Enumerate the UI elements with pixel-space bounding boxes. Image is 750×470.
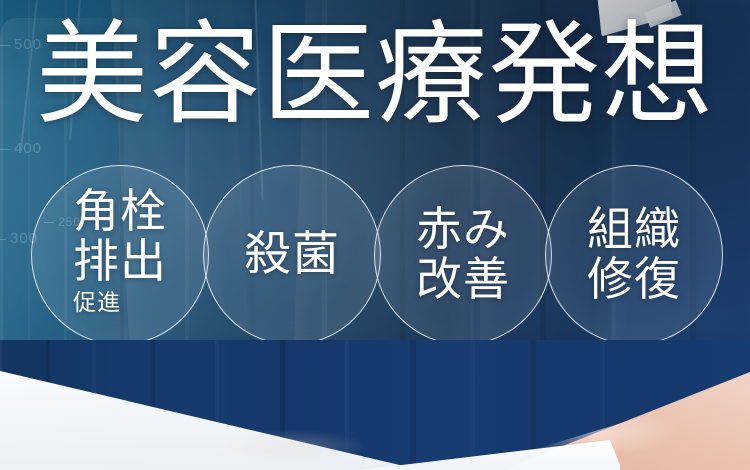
feature-circle-soshiki-shufuku[interactable]: 組織 修復 (545, 165, 723, 345)
feature-circle-group: 角栓 排出 促進 殺菌 赤み 改善 組織 修復 (0, 161, 750, 347)
bottom-composition (0, 340, 750, 470)
circle-label-line1: 殺菌 (244, 229, 340, 281)
promo-banner: 500 400 300 250 100 美容医療発想 角栓 排出 促進 殺菌 赤… (0, 0, 750, 470)
circle-label-line2: 改善 (416, 255, 510, 305)
circle-label-line1: 赤み (416, 205, 510, 255)
circle-label-line2: 排出 (73, 237, 167, 287)
feature-circle-kakusen-haishutsu[interactable]: 角栓 排出 促進 (31, 165, 209, 345)
white-wedge-soft-glow (180, 422, 400, 470)
feature-circle-akami-kaizen[interactable]: 赤み 改善 (374, 165, 552, 345)
circle-label-line1: 組織 (587, 205, 681, 255)
page-title: 美容医療発想 (0, 12, 750, 140)
circle-sublabel: 促進 (73, 290, 167, 316)
circle-label-line2: 修復 (587, 255, 681, 305)
feature-circle-sakkin[interactable]: 殺菌 (203, 165, 381, 345)
circle-label-line1: 角栓 (73, 187, 167, 237)
